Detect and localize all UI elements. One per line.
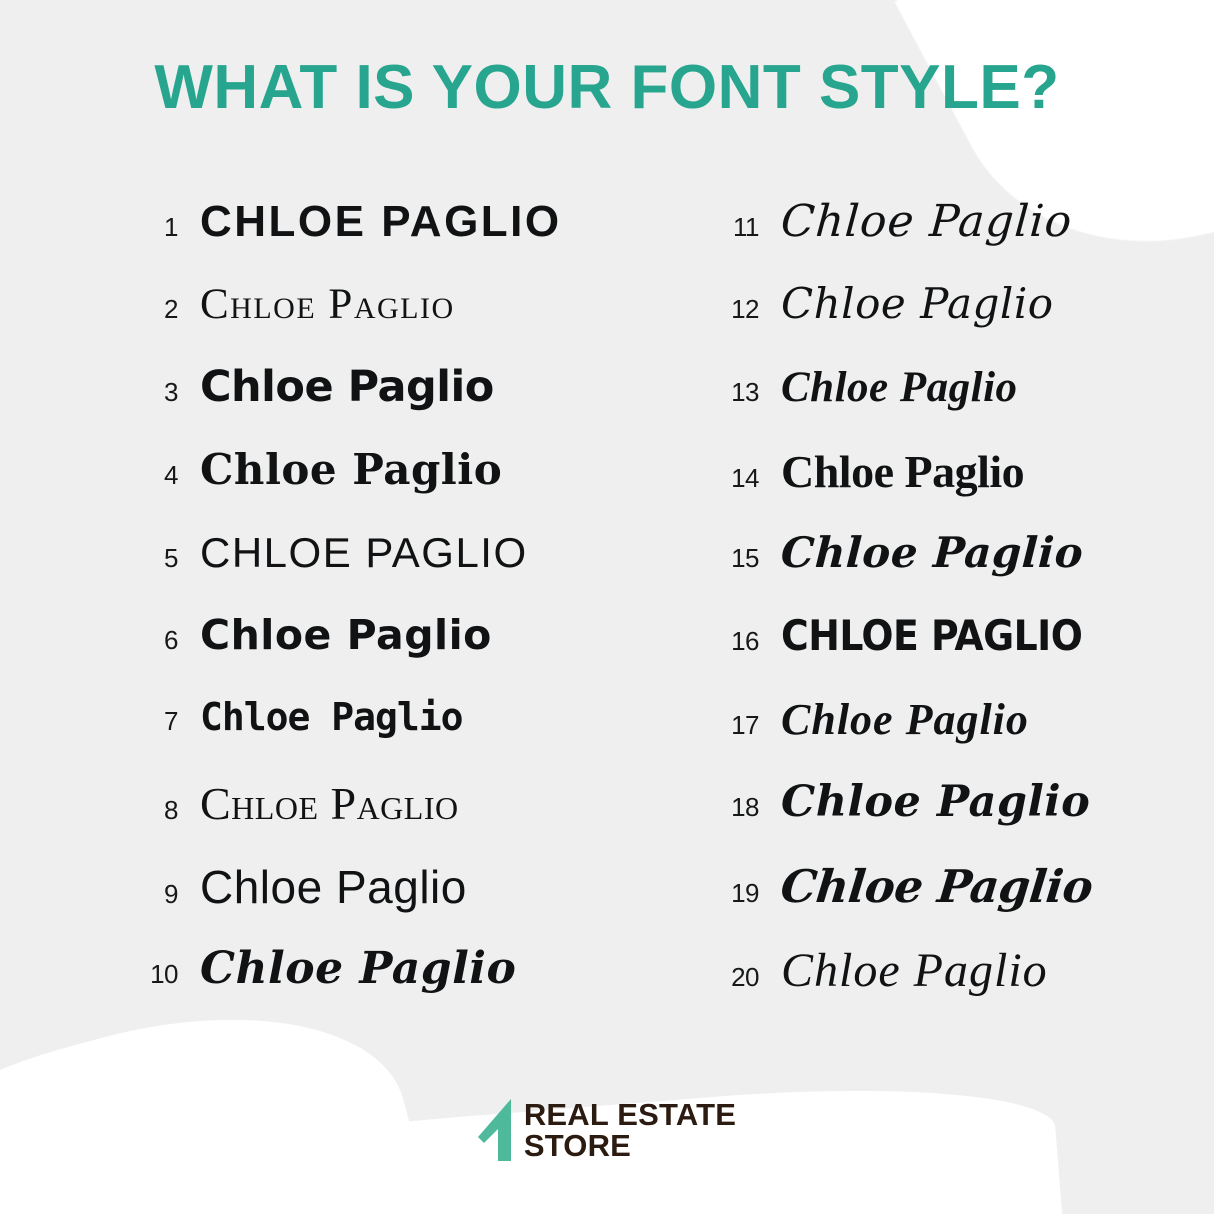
page-title: WHAT IS YOUR FONT STYLE? [0, 52, 1214, 123]
sample-text: Chloe Paglio [780, 532, 1084, 574]
sample-number: 16 [713, 628, 759, 654]
sample-text: Chloe Paglio [781, 947, 1048, 995]
sample-text: Chloe Paglio [781, 366, 1018, 409]
sample-text: Chloe Paglio [781, 698, 1029, 742]
sample-number: 7 [132, 708, 178, 734]
sample-number: 20 [713, 964, 759, 990]
sample-number: 18 [713, 794, 759, 820]
brand-logo-line-1: REAL ESTATE [524, 1099, 736, 1131]
font-sample-row-6[interactable]: 6 Chloe Paglio [132, 615, 633, 698]
sample-number: 10 [132, 961, 178, 987]
poster-canvas: WHAT IS YOUR FONT STYLE? 1 CHLOE PAGLIO … [0, 0, 1214, 1214]
sample-number: 11 [713, 214, 759, 240]
sample-number: 14 [713, 465, 759, 491]
font-sample-row-12[interactable]: 12 Chloe Paglio [713, 283, 1214, 366]
font-sample-row-15[interactable]: 15 Chloe Paglio [713, 532, 1214, 615]
font-sample-row-18[interactable]: 18 Chloe Paglio [713, 781, 1214, 864]
sample-number: 5 [132, 545, 178, 571]
sample-number: 2 [132, 296, 178, 322]
sample-text: Chloe Paglio [781, 781, 1090, 824]
brand-logo-lockup: REAL ESTATE STORE [478, 1099, 736, 1162]
sample-text: CHLOE PAGLIO [200, 532, 528, 574]
font-sample-row-14[interactable]: 14 Chloe Paglio [713, 449, 1214, 532]
sample-text: Chloe Paglio [781, 283, 1054, 325]
sample-number: 9 [132, 881, 178, 907]
font-sample-row-4[interactable]: 4 Chloe Paglio [132, 449, 633, 532]
font-sample-row-11[interactable]: 11 Chloe Paglio [713, 200, 1214, 283]
font-sample-list: 1 CHLOE PAGLIO 2 Chloe Paglio 3 Chloe Pa… [0, 200, 1214, 1030]
brand-logo-text: REAL ESTATE STORE [524, 1099, 736, 1162]
sample-text: Chloe Paglio [781, 449, 1024, 495]
sample-number: 3 [132, 379, 178, 405]
font-sample-row-8[interactable]: 8 Chloe Paglio [132, 781, 633, 864]
sample-text: Chloe Paglio [200, 864, 467, 910]
sample-text: Chloe Paglio [200, 698, 463, 736]
sample-text: Chloe Paglio [200, 283, 455, 326]
font-sample-row-5[interactable]: 5 CHLOE PAGLIO [132, 532, 633, 615]
sample-text: CHLOE PAGLIO [200, 200, 562, 244]
brand-logo: REAL ESTATE STORE [0, 1099, 1214, 1162]
font-sample-row-17[interactable]: 17 Chloe Paglio [713, 698, 1214, 781]
sample-text: Chloe Paglio [200, 615, 492, 656]
sample-text: Chloe Paglio [779, 864, 1095, 909]
sample-text: Chloe Paglio [779, 200, 1073, 244]
font-sample-column-left: 1 CHLOE PAGLIO 2 Chloe Paglio 3 Chloe Pa… [0, 200, 633, 1030]
house-arrow-logo-mark-icon [478, 1099, 512, 1161]
font-sample-row-2[interactable]: 2 Chloe Paglio [132, 283, 633, 366]
sample-number: 17 [713, 712, 759, 738]
sample-number: 19 [713, 880, 759, 906]
font-sample-row-16[interactable]: 16 CHLOE PAGLIO [713, 615, 1214, 698]
sample-number: 1 [132, 214, 178, 240]
font-sample-column-right: 11 Chloe Paglio 12 Chloe Paglio 13 Chloe… [633, 200, 1214, 1030]
font-sample-row-10[interactable]: 10 Chloe Paglio [132, 947, 633, 1030]
font-sample-row-1[interactable]: 1 CHLOE PAGLIO [132, 200, 633, 283]
sample-number: 8 [132, 797, 178, 823]
sample-text: CHLOE PAGLIO [781, 615, 1082, 657]
font-sample-row-9[interactable]: 9 Chloe Paglio [132, 864, 633, 947]
font-sample-row-13[interactable]: 13 Chloe Paglio [713, 366, 1214, 449]
sample-number: 13 [713, 379, 759, 405]
sample-number: 12 [713, 296, 759, 322]
sample-number: 15 [713, 545, 759, 571]
font-sample-row-3[interactable]: 3 Chloe Paglio [132, 366, 633, 449]
sample-text: Chloe Paglio [200, 947, 516, 991]
sample-number: 6 [132, 627, 178, 653]
sample-number: 4 [132, 462, 178, 488]
sample-text: Chloe Paglio [200, 449, 502, 491]
brand-logo-line-2: STORE [524, 1130, 736, 1162]
font-sample-row-7[interactable]: 7 Chloe Paglio [132, 698, 633, 781]
font-sample-row-19[interactable]: 19 Chloe Paglio [713, 864, 1214, 947]
font-sample-row-20[interactable]: 20 Chloe Paglio [713, 947, 1214, 1030]
sample-text: Chloe Paglio [200, 781, 459, 827]
sample-text: Chloe Paglio [200, 366, 494, 409]
